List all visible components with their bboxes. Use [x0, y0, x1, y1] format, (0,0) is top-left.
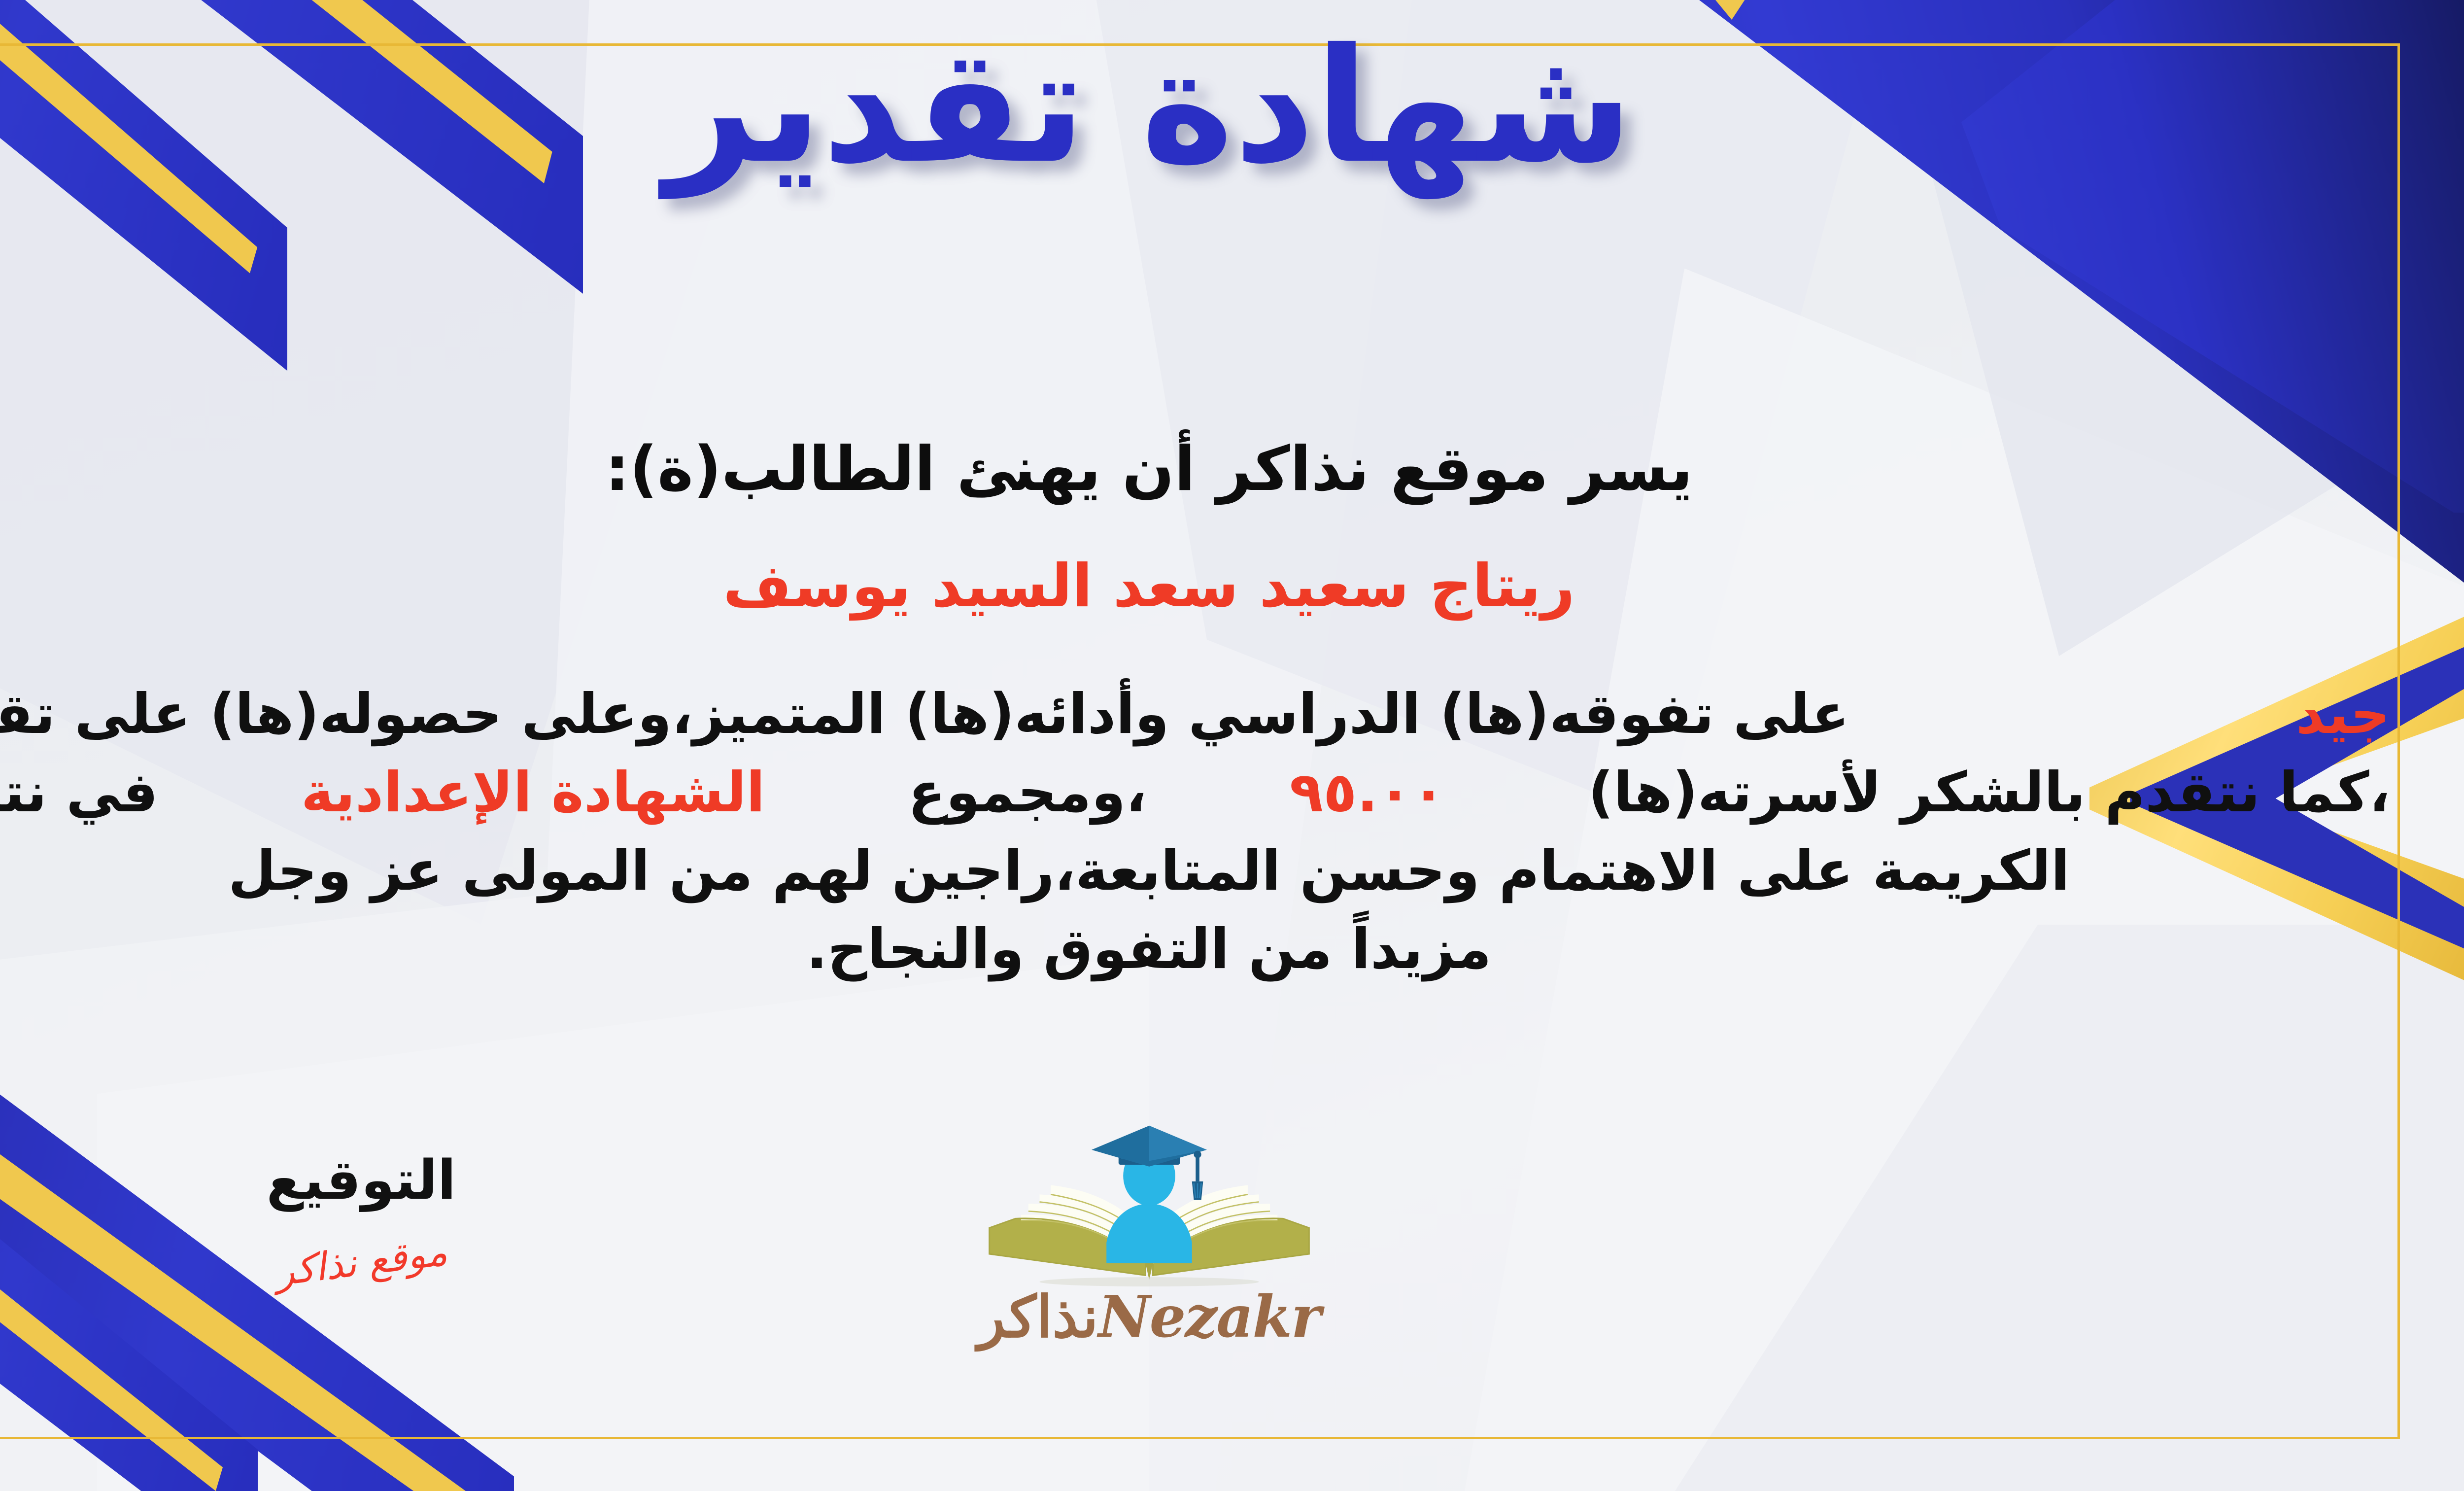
body-line-2: ،كما نتقدم بالشكر لأسرته(ها) ٩٥.٠٠ ،ومجم… [0, 754, 2390, 832]
logo-arabic: نذاكر [978, 1283, 1098, 1351]
exam-name: الشهادة الإعدادية [301, 754, 765, 832]
certificate-content: شهادة تقدير يسر موقع نذاكر أن يهنئ الطال… [0, 0, 2464, 1491]
body-line-1-text: على تفوقه(ها) الدراسي وأدائه(ها) المتميز… [0, 675, 1849, 754]
signature-label: التوقيع [208, 1148, 514, 1212]
total-value: ٩٥.٠٠ [1290, 754, 1445, 832]
grade-value: جيد [2296, 675, 2390, 754]
signature-block: التوقيع موقع نذاكر [208, 1148, 514, 1284]
certificate-canvas: شهادة تقدير يسر موقع نذاكر أن يهنئ الطال… [0, 0, 2464, 1491]
site-logo: Nezakrنذاكر [962, 1124, 1336, 1351]
logo-wordmark: Nezakrنذاكر [962, 1283, 1336, 1351]
body-line-4: مزيداً من التفوق والنجاح. [0, 910, 2390, 989]
logo-latin: Nezakr [1098, 1283, 1320, 1351]
student-name: ريتاج سعيد سعد السيد يوسف [0, 552, 2464, 621]
signature-script: موقع نذاكر [273, 1230, 450, 1295]
body-line-3: الكريمة على الاهتمام وحسن المتابعة،راجين… [0, 832, 2390, 910]
graduate-book-icon [962, 1124, 1336, 1286]
body-line-1: جيد على تفوقه(ها) الدراسي وأدائه(ها) الم… [0, 675, 2390, 754]
page-title: شهادة تقدير [0, 20, 2464, 193]
family-thanks-text: ،كما نتقدم بالشكر لأسرته(ها) [1588, 754, 2390, 832]
intro-text: يسر موقع نذاكر أن يهنئ الطالب(ة): [0, 434, 2464, 505]
result-prefix: في نتيجة [0, 754, 158, 832]
body-paragraph: جيد على تفوقه(ها) الدراسي وأدائه(ها) الم… [0, 675, 2390, 989]
total-label: ،ومجموع [908, 754, 1147, 832]
